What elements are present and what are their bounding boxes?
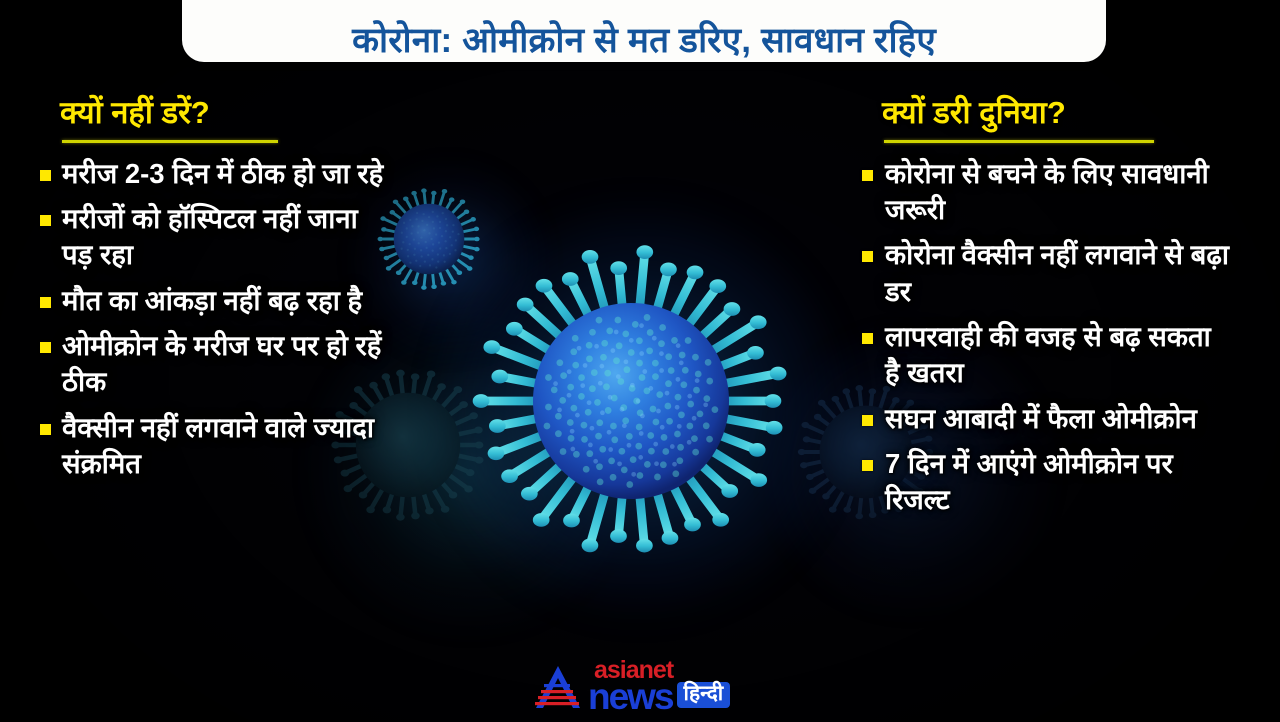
left-column-heading: क्यों नहीं डरें? [18, 96, 388, 131]
list-item-label: सघन आबादी में फैला ओमीक्रोन [885, 401, 1197, 437]
bullet-square-icon [862, 333, 873, 344]
list-item: मरीजों को हॉस्पिटल नहीं जाना पड़ रहा [18, 201, 388, 274]
bullet-square-icon [40, 170, 51, 181]
left-bullet-list: मरीज 2-3 दिन में ठीक हो जा रहे मरीजों को… [18, 156, 388, 482]
right-bullet-list: कोरोना से बचने के लिए सावधानी जरूरी कोरो… [862, 156, 1232, 519]
list-item-label: मरीजों को हॉस्पिटल नहीं जाना पड़ रहा [62, 201, 388, 274]
list-item-label: ओमीक्रोन के मरीज घर पर हो रहें ठीक [62, 328, 388, 401]
list-item-label: कोरोना से बचने के लिए सावधानी जरूरी [885, 156, 1232, 229]
list-item: कोरोना वैक्सीन नहीं लगवाने से बढ़ा डर [862, 237, 1232, 310]
list-item: 7 दिन में आएंगे ओमीक्रोन पर रिजल्ट [862, 446, 1232, 519]
list-item: लापरवाही की वजह से बढ़ सकता है खतरा [862, 319, 1232, 392]
virus-particle-main [462, 232, 800, 570]
list-item: मौत का आंकड़ा नहीं बढ़ रहा है [18, 283, 388, 319]
logo-hindi-badge: हिन्दी [677, 682, 731, 708]
bullet-square-icon [862, 170, 873, 181]
left-column: क्यों नहीं डरें? मरीज 2-3 दिन में ठीक हो… [18, 96, 388, 491]
list-item-label: वैक्सीन नहीं लगवाने वाले ज्यादा संक्रमित [62, 410, 388, 483]
bullet-square-icon [40, 424, 51, 435]
page-title: कोरोना: ओमीक्रोन से मत डरिए, सावधान रहिए [352, 23, 936, 58]
left-heading-underline [62, 140, 278, 143]
title-banner: कोरोना: ओमीक्रोन से मत डरिए, सावधान रहिए [182, 0, 1106, 62]
bullet-square-icon [862, 415, 873, 426]
asianet-triangle-mark-icon [532, 662, 584, 712]
right-heading-underline [884, 140, 1154, 143]
infographic-poster: कोरोना: ओमीक्रोन से मत डरिए, सावधान रहिए… [0, 0, 1280, 722]
logo-wordmark: asianet news हिन्दी [588, 658, 730, 715]
list-item-label: मौत का आंकड़ा नहीं बढ़ रहा है [62, 283, 362, 319]
list-item: वैक्सीन नहीं लगवाने वाले ज्यादा संक्रमित [18, 410, 388, 483]
bullet-square-icon [862, 460, 873, 471]
logo-news-text: news [588, 678, 673, 715]
right-column-heading: क्यों डरी दुनिया? [862, 96, 1232, 131]
list-item-label: मरीज 2-3 दिन में ठीक हो जा रहे [62, 156, 383, 192]
bullet-square-icon [40, 297, 51, 308]
right-column: क्यों डरी दुनिया? कोरोना से बचने के लिए … [862, 96, 1232, 527]
list-item-label: 7 दिन में आएंगे ओमीक्रोन पर रिजल्ट [885, 446, 1232, 519]
list-item-label: कोरोना वैक्सीन नहीं लगवाने से बढ़ा डर [885, 237, 1232, 310]
list-item-label: लापरवाही की वजह से बढ़ सकता है खतरा [885, 319, 1232, 392]
list-item: सघन आबादी में फैला ओमीक्रोन [862, 401, 1232, 437]
list-item: मरीज 2-3 दिन में ठीक हो जा रहे [18, 156, 388, 192]
bullet-square-icon [40, 342, 51, 353]
list-item: ओमीक्रोन के मरीज घर पर हो रहें ठीक [18, 328, 388, 401]
list-item: कोरोना से बचने के लिए सावधानी जरूरी [862, 156, 1232, 229]
bullet-square-icon [862, 251, 873, 262]
asianet-news-hindi-logo: asianet news हिन्दी [532, 658, 730, 715]
bullet-square-icon [40, 215, 51, 226]
virus-glow-main [430, 200, 850, 620]
